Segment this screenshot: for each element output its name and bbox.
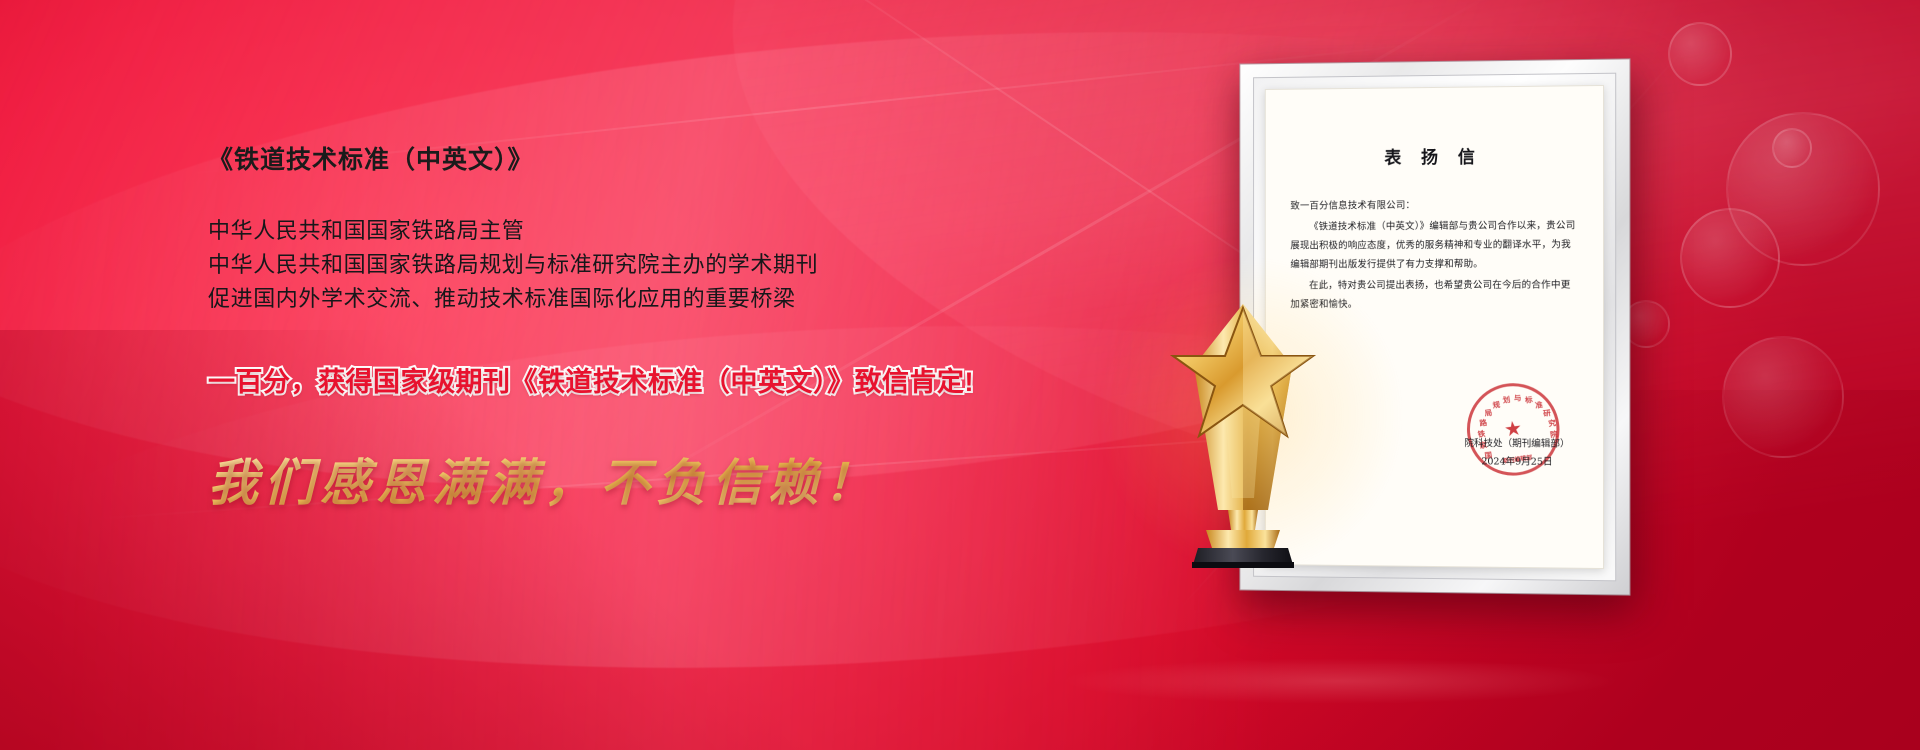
description-line-2: 中华人民共和国国家铁路局规划与标准研究院主办的学术期刊 bbox=[208, 248, 1008, 282]
bokeh-circle-6 bbox=[1722, 336, 1844, 458]
certificate-salutation: 致一百分信息技术有限公司： bbox=[1290, 195, 1577, 216]
text-content-block: 《铁道技术标准（中英文）》 中华人民共和国国家铁路局主管 中华人民共和国国家铁路… bbox=[208, 140, 1008, 515]
trophy-icon bbox=[1128, 248, 1358, 568]
journal-title: 《铁道技术标准（中英文）》 bbox=[208, 140, 1008, 176]
certificate-signature: 院科技处（期刊编辑部） 2024年9月25日 bbox=[1464, 435, 1569, 472]
calligraphy-slogan: 我们感恩满满，不负信赖！ bbox=[208, 443, 1008, 515]
bokeh-circle-4 bbox=[1726, 112, 1880, 266]
signature-date: 2024年9月25日 bbox=[1464, 453, 1569, 472]
floor-reflection bbox=[1060, 658, 1620, 704]
description-line-3: 促进国内外学术交流、推动技术标准国际化应用的重要桥梁 bbox=[208, 282, 1008, 316]
signature-organization: 院科技处（期刊编辑部） bbox=[1464, 435, 1569, 454]
bokeh-circle-3 bbox=[1680, 208, 1780, 308]
headline-text: 一百分，获得国家级期刊《铁道技术标准（中英文）》致信肯定! bbox=[208, 360, 1008, 399]
bokeh-circle-2 bbox=[1772, 128, 1812, 168]
description-line-1: 中华人民共和国国家铁路局主管 bbox=[208, 214, 1008, 248]
bokeh-circle-1 bbox=[1668, 22, 1732, 86]
promotional-banner: 《铁道技术标准（中英文）》 中华人民共和国国家铁路局主管 中华人民共和国国家铁路… bbox=[0, 0, 1920, 750]
certificate-title: 表 扬 信 bbox=[1290, 142, 1577, 169]
